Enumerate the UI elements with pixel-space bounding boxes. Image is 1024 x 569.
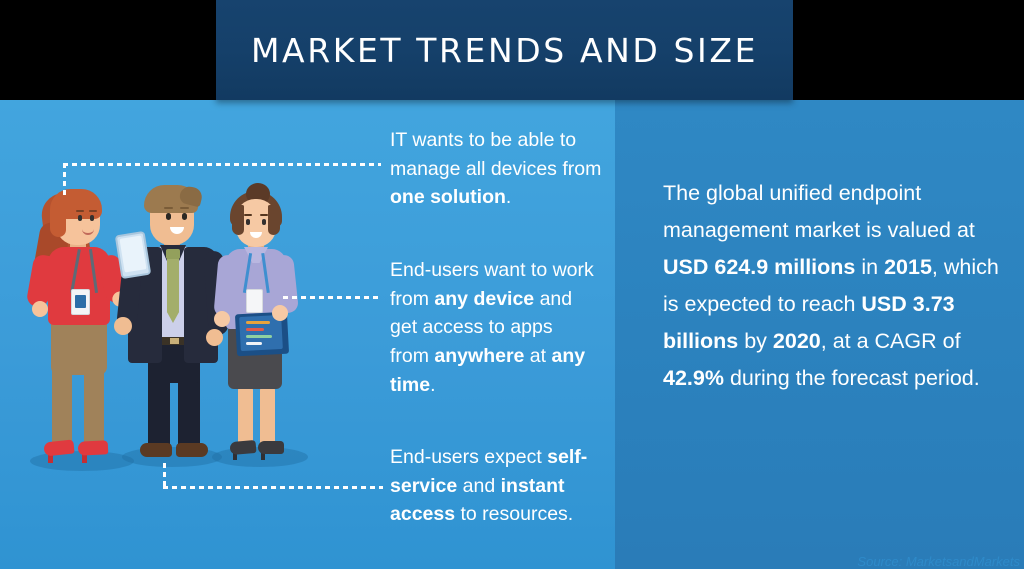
callout-it-one-solution: IT wants to be able to manage all device…	[390, 126, 605, 212]
connector-vertical-callout-1	[63, 163, 66, 197]
eyebrow-left-woman-lavender	[244, 214, 252, 216]
tie-man-suit	[167, 255, 179, 323]
hand-left-woman-lavender	[214, 311, 230, 327]
belt-buckle-man-suit	[170, 338, 179, 344]
hand-left-man-suit	[114, 317, 132, 335]
hair-side-left-woman-lavender	[232, 205, 244, 235]
folder-line-1	[246, 321, 270, 324]
callout-self-service: End-users expect self-service and instan…	[390, 443, 605, 529]
id-badge-woman-lavender	[246, 289, 263, 313]
tie-knot-man-suit	[166, 249, 180, 259]
folder-line-4	[246, 342, 262, 345]
id-badge-photo-woman-red	[75, 295, 86, 308]
leg-right-woman-lavender	[260, 385, 275, 447]
leg-left-man-suit	[148, 375, 170, 451]
connector-horizontal-callout-1	[63, 163, 381, 166]
shoe-left-man-suit	[140, 443, 172, 457]
eye-left-woman-lavender	[246, 219, 250, 225]
shoe-right-woman-lavender	[258, 441, 284, 454]
eye-right-woman-red	[90, 215, 94, 221]
connector-horizontal-callout-3	[163, 486, 383, 489]
leg-right-man-suit	[178, 375, 200, 451]
header-bar: MARKET TRENDS AND SIZE	[216, 0, 793, 100]
hand-left-woman-red	[32, 301, 48, 317]
eyebrow-left-man-suit	[164, 207, 173, 209]
shoe-right-man-suit	[176, 443, 208, 457]
hair-side-woman-red	[50, 203, 66, 237]
folder-line-3	[246, 335, 272, 338]
shoe-left-woman-lavender	[229, 440, 256, 455]
eye-left-woman-red	[78, 215, 82, 221]
leg-left-woman-red	[52, 363, 72, 447]
eyebrow-right-woman-red	[89, 210, 97, 212]
connector-horizontal-callout-2	[283, 296, 381, 299]
pants-woman-red	[51, 319, 107, 375]
hand-right-woman-lavender	[272, 305, 288, 321]
source-attribution: Source: MarketsandMarkets	[780, 554, 1020, 569]
shoe-right-woman-red	[78, 440, 109, 456]
eye-right-man-suit	[182, 213, 187, 220]
eyebrow-left-woman-red	[76, 210, 84, 212]
infographic-canvas: MARKET TRENDS AND SIZE	[0, 0, 1024, 569]
hair-side-right-woman-lavender	[268, 205, 280, 235]
leg-right-woman-red	[84, 363, 104, 447]
page-title: MARKET TRENDS AND SIZE	[251, 31, 758, 70]
hand-right-man-suit	[206, 329, 223, 346]
eye-right-woman-lavender	[262, 219, 266, 225]
office-workers-illustration	[14, 185, 314, 475]
eye-left-man-suit	[166, 213, 171, 220]
callout-end-users-any-device: End-users want to work from any device a…	[390, 256, 596, 399]
eyebrow-right-man-suit	[180, 207, 189, 209]
eyebrow-right-woman-lavender	[260, 214, 268, 216]
leg-left-woman-lavender	[238, 385, 253, 447]
folder-line-2	[246, 328, 264, 331]
market-size-statement: The global unified endpoint management m…	[663, 175, 1003, 397]
